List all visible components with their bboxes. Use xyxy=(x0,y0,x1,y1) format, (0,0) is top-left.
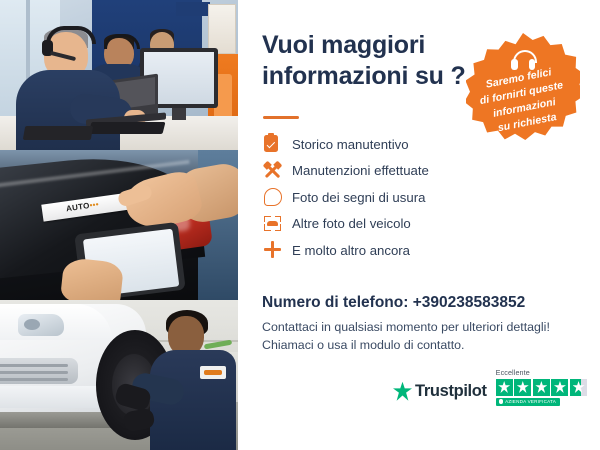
rating-stars xyxy=(496,379,587,396)
star-filled-icon xyxy=(496,379,513,396)
wall-sign-shape xyxy=(176,2,210,16)
star-partial-icon xyxy=(570,379,587,396)
list-item-label: Manutenzioni effettuate xyxy=(288,163,429,178)
contact-text-line-2: Chiamaci o usa il modulo di contatto. xyxy=(262,338,465,352)
trustpilot-wordmark: Trustpilot xyxy=(415,382,487,401)
verified-label: AZIENDA VERIFICATA xyxy=(505,399,556,404)
list-item: Foto dei segni di usura xyxy=(262,184,562,211)
list-item-label: E molto altro ancora xyxy=(288,243,410,258)
feature-list: Storico manutentivo Manutenzioni effettu… xyxy=(262,131,562,264)
list-item: Altre foto del veicolo xyxy=(262,211,562,238)
monitor-stand-shape xyxy=(172,108,186,120)
content-panel: Vuoi maggiori informazioni su ? Saremo f… xyxy=(238,0,600,450)
plus-icon xyxy=(262,240,288,260)
magnifier-icon xyxy=(262,187,288,207)
headlight-shape xyxy=(18,314,64,336)
list-item-label: Altre foto del veicolo xyxy=(288,216,411,231)
trustpilot-rating-block: Eccellente AZIENDA VERIFICATA xyxy=(496,368,587,406)
bumper-shape xyxy=(0,386,106,408)
second-keyboard-shape xyxy=(23,126,93,140)
phone-number[interactable]: Numero di telefono: +390238583852 xyxy=(262,294,525,312)
trustpilot-widget[interactable]: Trustpilot Eccellente AZIENDA VERIFICATA xyxy=(393,368,587,406)
trustpilot-star-icon xyxy=(393,382,412,401)
wall-poster-shape xyxy=(208,4,236,54)
callout-badge: Saremo felici di fornirti queste informa… xyxy=(466,33,580,145)
page-title: Vuoi maggiori informazioni su ? xyxy=(262,30,492,91)
grille-shape xyxy=(0,358,78,384)
list-item: Storico manutentivo xyxy=(262,131,562,158)
clipboard-check-icon xyxy=(262,134,288,154)
rating-label: Eccellente xyxy=(496,368,530,377)
mechanic-wheel-photo xyxy=(0,300,238,450)
contact-info-banner: AUTO••• xyxy=(0,0,600,450)
trustpilot-logo: Trustpilot xyxy=(393,382,487,406)
headline-line-1: Vuoi maggiori xyxy=(262,30,492,61)
headset-band-shape xyxy=(46,26,96,44)
contact-text-line-1: Contattaci in qualsiasi momento per ulte… xyxy=(262,320,550,334)
list-item: E molto altro ancora xyxy=(262,237,562,264)
car-frame-icon xyxy=(262,214,288,234)
list-item: Manutenzioni effettuate xyxy=(262,158,562,185)
call-center-agents-photo xyxy=(0,0,238,150)
star-filled-icon xyxy=(551,379,568,396)
sticker-on-car-photo: AUTO••• xyxy=(0,150,238,300)
star-filled-icon xyxy=(533,379,550,396)
check-icon xyxy=(499,399,503,403)
status-badge: AZIENDA VERIFICATA xyxy=(496,398,560,406)
wrench-cross-icon xyxy=(262,161,288,181)
keyboard-shape xyxy=(89,122,166,134)
list-item-label: Foto dei segni di usura xyxy=(288,190,425,205)
photo-column: AUTO••• xyxy=(0,0,238,450)
list-item-label: Storico manutentivo xyxy=(288,137,409,152)
title-underline xyxy=(263,116,299,119)
star-filled-icon xyxy=(514,379,531,396)
headline-line-2: informazioni su ? xyxy=(262,61,492,92)
